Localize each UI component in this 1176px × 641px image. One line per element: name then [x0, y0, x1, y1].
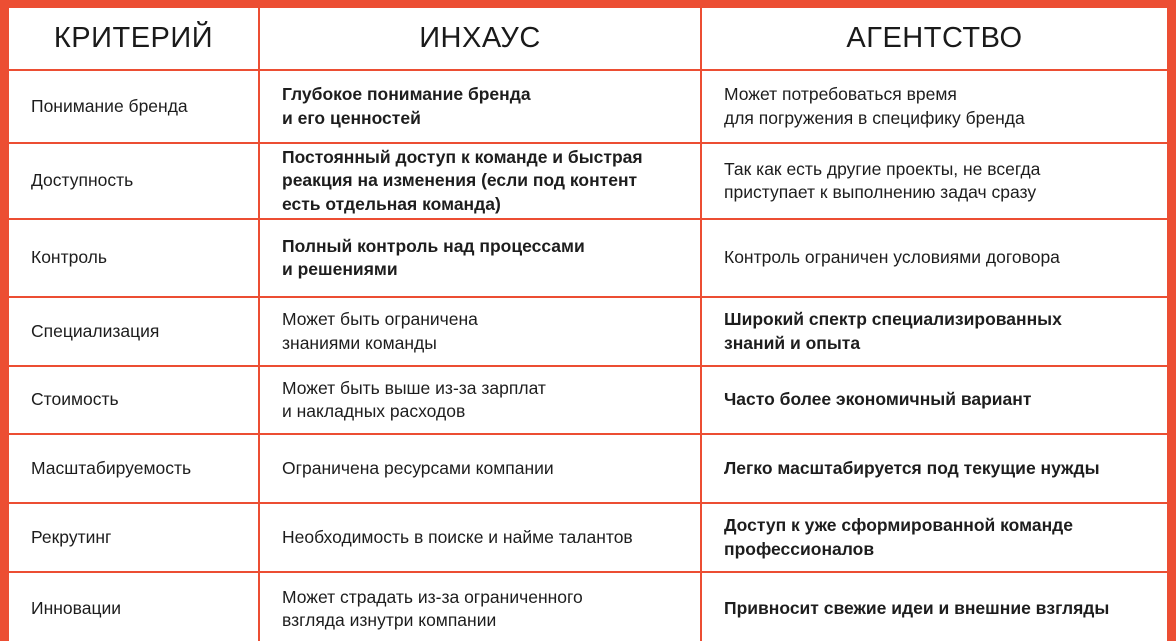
cell-criterion: Инновации	[9, 572, 259, 641]
cell-agency-text: Доступ к уже сформированной командепрофе…	[702, 514, 1167, 560]
cell-agency-text: Привносит свежие идеи и внешние взгляды	[702, 597, 1167, 620]
cell-agency: Доступ к уже сформированной командепрофе…	[701, 503, 1167, 572]
cell-agency-text: Широкий спектр специализированныхзнаний …	[702, 308, 1167, 354]
cell-inhouse-text: Необходимость в поиске и найме талантов	[260, 526, 700, 549]
table-header-row: КРИТЕРИЙ ИНХАУС АГЕНТСТВО	[9, 8, 1167, 70]
cell-agency-text: Контроль ограничен условиями договора	[702, 246, 1167, 269]
cell-criterion: Контроль	[9, 219, 259, 297]
cell-inhouse: Полный контроль над процессамии решениям…	[259, 219, 701, 297]
table-body: Понимание брендаГлубокое понимание бренд…	[9, 70, 1167, 641]
cell-agency: Широкий спектр специализированныхзнаний …	[701, 297, 1167, 366]
cell-criterion: Стоимость	[9, 366, 259, 434]
cell-criterion-text: Контроль	[9, 246, 258, 269]
cell-inhouse-text: Ограничена ресурсами компании	[260, 457, 700, 480]
cell-criterion-text: Масштабируемость	[9, 457, 258, 480]
table-row: РекрутингНеобходимость в поиске и найме …	[9, 503, 1167, 572]
cell-agency: Так как есть другие проекты, не всегдапр…	[701, 143, 1167, 219]
cell-criterion-text: Специализация	[9, 320, 258, 343]
cell-criterion-text: Инновации	[9, 597, 258, 620]
table-row: Понимание брендаГлубокое понимание бренд…	[9, 70, 1167, 143]
table-row: ИнновацииМожет страдать из-за ограниченн…	[9, 572, 1167, 641]
column-header-criterion-label: КРИТЕРИЙ	[9, 23, 258, 55]
column-header-inhouse: ИНХАУС	[259, 8, 701, 70]
comparison-table-frame: КРИТЕРИЙ ИНХАУС АГЕНТСТВО Понимание брен…	[0, 0, 1176, 641]
cell-criterion: Масштабируемость	[9, 434, 259, 503]
cell-agency-text: Так как есть другие проекты, не всегдапр…	[702, 158, 1167, 204]
comparison-table: КРИТЕРИЙ ИНХАУС АГЕНТСТВО Понимание брен…	[9, 8, 1167, 641]
cell-criterion-text: Стоимость	[9, 388, 258, 411]
table-row: СтоимостьМожет быть выше из-за зарплати …	[9, 366, 1167, 434]
cell-criterion: Понимание бренда	[9, 70, 259, 143]
column-header-agency: АГЕНТСТВО	[701, 8, 1167, 70]
cell-inhouse: Ограничена ресурсами компании	[259, 434, 701, 503]
cell-criterion: Рекрутинг	[9, 503, 259, 572]
cell-agency: Привносит свежие идеи и внешние взгляды	[701, 572, 1167, 641]
cell-inhouse: Может страдать из-за ограниченноговзгляд…	[259, 572, 701, 641]
cell-inhouse: Необходимость в поиске и найме талантов	[259, 503, 701, 572]
cell-criterion-text: Рекрутинг	[9, 526, 258, 549]
cell-agency: Может потребоваться времядля погружения …	[701, 70, 1167, 143]
cell-inhouse-text: Полный контроль над процессамии решениям…	[260, 235, 700, 281]
cell-inhouse: Постоянный доступ к команде и быстраяреа…	[259, 143, 701, 219]
cell-agency-text: Легко масштабируется под текущие нужды	[702, 457, 1167, 480]
cell-inhouse-text: Может быть ограниченазнаниями команды	[260, 308, 700, 354]
cell-inhouse-text: Глубокое понимание брендаи его ценностей	[260, 83, 700, 129]
cell-inhouse: Глубокое понимание брендаи его ценностей	[259, 70, 701, 143]
cell-agency: Часто более экономичный вариант	[701, 366, 1167, 434]
table-row: КонтрольПолный контроль над процессамии …	[9, 219, 1167, 297]
cell-inhouse-text: Может быть выше из-за зарплати накладных…	[260, 377, 700, 423]
cell-inhouse-text: Может страдать из-за ограниченноговзгляд…	[260, 586, 700, 632]
cell-agency: Контроль ограничен условиями договора	[701, 219, 1167, 297]
table-header: КРИТЕРИЙ ИНХАУС АГЕНТСТВО	[9, 8, 1167, 70]
cell-inhouse: Может быть выше из-за зарплати накладных…	[259, 366, 701, 434]
cell-criterion: Специализация	[9, 297, 259, 366]
cell-criterion-text: Доступность	[9, 169, 258, 192]
table-row: СпециализацияМожет быть ограниченазнания…	[9, 297, 1167, 366]
cell-inhouse: Может быть ограниченазнаниями команды	[259, 297, 701, 366]
column-header-agency-label: АГЕНТСТВО	[702, 23, 1167, 55]
cell-criterion: Доступность	[9, 143, 259, 219]
table-row: ДоступностьПостоянный доступ к команде и…	[9, 143, 1167, 219]
cell-agency-text: Часто более экономичный вариант	[702, 388, 1167, 411]
cell-agency-text: Может потребоваться времядля погружения …	[702, 83, 1167, 129]
column-header-inhouse-label: ИНХАУС	[260, 23, 700, 55]
table-row: МасштабируемостьОграничена ресурсами ком…	[9, 434, 1167, 503]
cell-inhouse-text: Постоянный доступ к команде и быстраяреа…	[260, 146, 700, 215]
cell-criterion-text: Понимание бренда	[9, 95, 258, 118]
column-header-criterion: КРИТЕРИЙ	[9, 8, 259, 70]
cell-agency: Легко масштабируется под текущие нужды	[701, 434, 1167, 503]
